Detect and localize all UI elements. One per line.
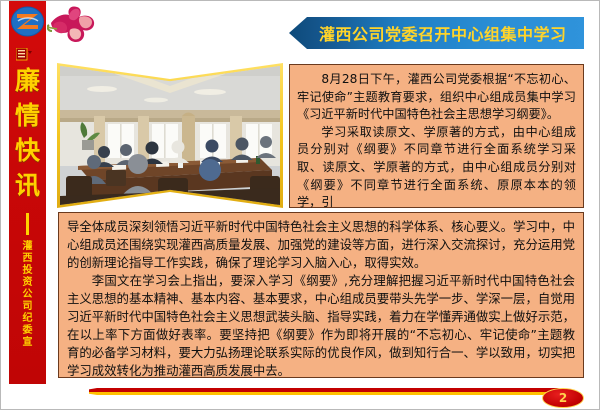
masthead-subtitle-char-2: 西: [9, 253, 46, 265]
article-paragraph-2: 学习采取读原文、学原著的方式，由中心组成员分别对《纲要》不同章节进行全面系统学习…: [297, 124, 576, 212]
article-paragraph-1: 8月28日下午，灌西公司党委根据“不忘初心、牢记使命”主题教育要求，组织中心组成…: [297, 71, 576, 124]
masthead-subtitle-char-7: 纪: [9, 313, 46, 325]
company-logo-z-icon: [11, 5, 44, 38]
bottom-decorative-bar: [89, 388, 565, 395]
masthead-subtitle: 灌 西 投 资 公 司 纪 委 宣: [9, 241, 46, 349]
article-paragraph-3: 导全体成员深刻领悟习近平新时代中国特色社会主义思想的科学体系、核心要义。学习中，…: [67, 218, 575, 272]
magnolia-flower-icon: [47, 3, 109, 49]
masthead-subtitle-char-3: 投: [9, 265, 46, 277]
masthead-column: 廉 情 快 讯 灌 西 投 资 公 司 纪 委 宣: [9, 1, 46, 384]
meeting-photo: [57, 63, 283, 208]
headline-banner: 灌西公司党委召开中心组集中学习: [289, 17, 584, 49]
article-text-box-main: 导全体成员深刻领悟习近平新时代中国特色社会主义思想的科学体系、核心要义。学习中，…: [58, 212, 584, 378]
newsletter-page: 廉 情 快 讯 灌 西 投 资 公 司 纪 委 宣: [0, 0, 600, 410]
headline-title: 灌西公司党委召开中心组集中学习: [319, 17, 578, 49]
article-text-box-top: 8月28日下午，灌西公司党委根据“不忘初心、牢记使命”主题教育要求，组织中心组成…: [289, 64, 584, 208]
masthead-title-char-2: 情: [9, 98, 46, 133]
masthead-subtitle-char-4: 资: [9, 277, 46, 289]
masthead-subtitle-char-1: 灌: [9, 241, 46, 253]
photo-image: [60, 66, 280, 205]
masthead-title-char-3: 快: [9, 133, 46, 168]
masthead-subtitle-char-8: 委: [9, 325, 46, 337]
page-number-badge: 2: [542, 388, 584, 408]
masthead-title-char-1: 廉: [9, 63, 46, 98]
masthead-subtitle-char-5: 公: [9, 289, 46, 301]
red-seal-icon: [16, 47, 32, 61]
article-paragraph-4: 李国文在学习会上指出，要深入学习《纲要》,充分理解把握习近平新时代中国特色社会主…: [67, 272, 575, 380]
masthead-subtitle-char-9: 宣: [9, 337, 46, 349]
masthead-subtitle-char-6: 司: [9, 301, 46, 313]
masthead-title-char-4: 讯: [9, 168, 46, 203]
bottom-bar-red-stripe: [89, 388, 565, 392]
masthead-divider: [26, 213, 29, 235]
masthead-title: 廉 情 快 讯: [9, 63, 46, 203]
bottom-bar-gold-stripe: [89, 392, 565, 395]
